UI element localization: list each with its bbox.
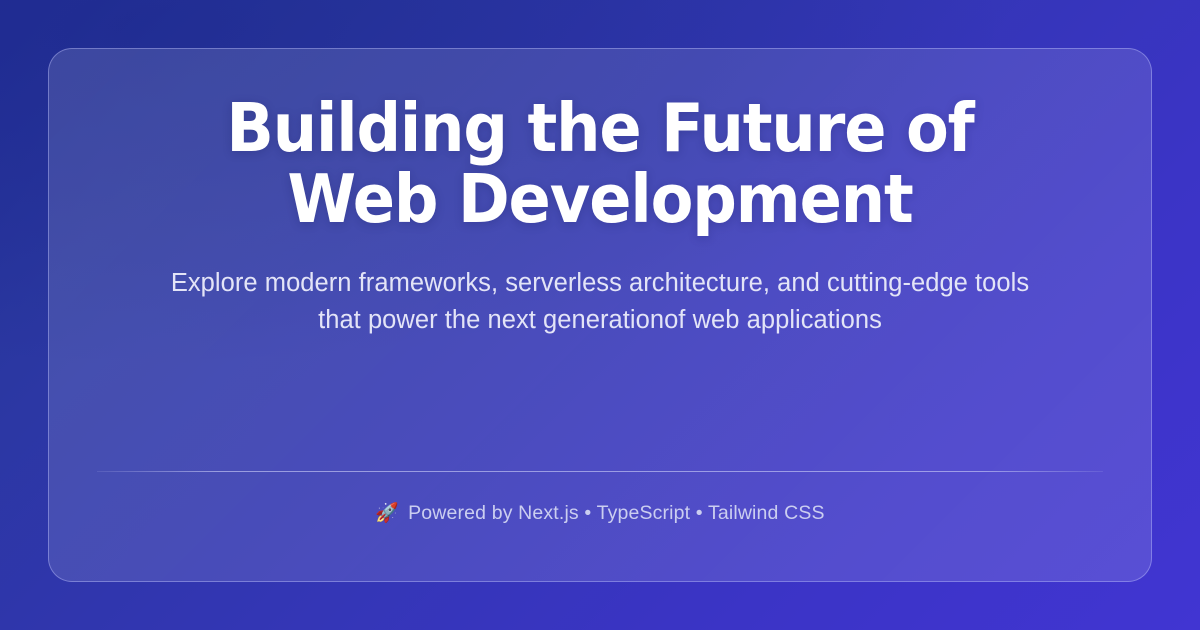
page-subtitle: Explore modern frameworks, serverless ar… [160, 265, 1040, 339]
footer-tech-stack-label: Powered by Next.js • TypeScript • Tailwi… [408, 502, 825, 525]
footer-credits: 🚀 Powered by Next.js • TypeScript • Tail… [375, 502, 824, 525]
page-title: Building the Future of Web Development [191, 93, 1009, 235]
rocket-icon: 🚀 [375, 504, 399, 523]
footer-divider [97, 471, 1103, 472]
hero-card: Building the Future of Web Development E… [48, 48, 1152, 582]
og-image-canvas: Building the Future of Web Development E… [0, 0, 1200, 630]
